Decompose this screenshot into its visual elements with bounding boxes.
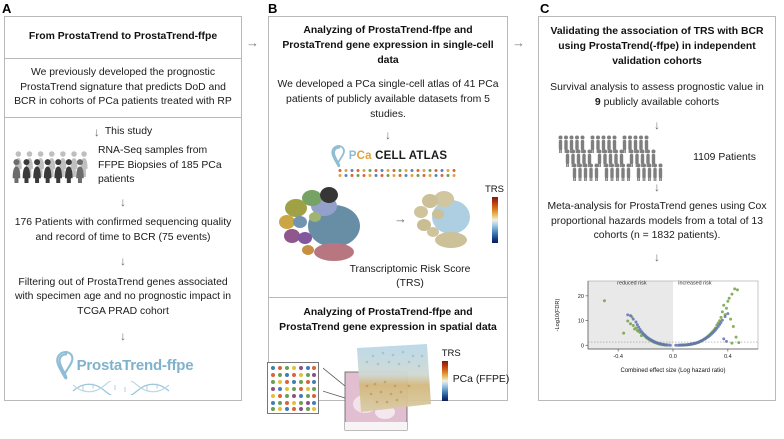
panel-a-title-cell: From ProstaTrend to ProstaTrend-ffpe	[5, 17, 241, 58]
volcano-annotation-1: increased risk	[678, 281, 712, 287]
trs-legend-singlecell: TRS	[485, 184, 504, 243]
panel-c-title: Validating the association of TRS with B…	[546, 25, 768, 69]
down-arrow-icon-b1: ↓	[385, 129, 391, 141]
volcano-ytick-0: 0	[581, 343, 584, 349]
trs-colorbar-2	[442, 361, 448, 401]
panel-c-letter: C	[540, 1, 550, 16]
panel-c-survival-text: Survival analysis to assess prognostic v…	[546, 81, 768, 111]
down-arrow-icon-c3: ↓	[654, 251, 660, 263]
volcano-annotation-0: reduced risk	[617, 281, 647, 287]
panel-a-intro-cell: We previously developed the prognostic P…	[5, 58, 241, 117]
this-study-arrow-row: ↓ This study	[94, 126, 152, 138]
trs-legend-label: TRS	[485, 184, 504, 195]
panel-b-singlecell-cell: Analyzing of ProstaTrend-ffpe and Prosta…	[269, 17, 507, 297]
panel-b-spatial-cell: Analyzing of ProstaTrend-ffpe and Prosta…	[269, 297, 507, 439]
panel-a: A → From ProstaTrend to ProstaTrend-ffpe…	[0, 0, 258, 407]
ribbon-icon	[53, 350, 75, 380]
panel-b-title: Analyzing of ProstaTrend-ffpe and Prosta…	[276, 24, 500, 68]
meta-analysis-text: Meta-analysis for ProstaTrend genes usin…	[546, 200, 768, 244]
panel-c-validation-cell: Validating the association of TRS with B…	[539, 17, 775, 188]
volcano-xtick-0: -0.4	[613, 354, 623, 360]
down-arrow-icon-c2: ↓	[649, 181, 665, 193]
volcano-xtick-1: 0.0	[669, 354, 677, 360]
down-arrow-icon: ↓	[94, 126, 100, 138]
atlas-cellatlas: CELL ATLAS	[375, 150, 447, 162]
panel-a-title: From ProstaTrend to ProstaTrend-ffpe	[29, 30, 217, 45]
trs-colorbar	[492, 197, 498, 243]
atlas-p: P	[349, 150, 357, 162]
down-arrow-icon-c1: ↓	[654, 119, 660, 131]
survival-post: publicly available cohorts	[604, 97, 720, 108]
volcano-ylabel: -Log10(FDR)	[555, 299, 561, 332]
volcano-ytick-2: 20	[578, 294, 584, 300]
spot-grid-icon	[267, 362, 319, 414]
people-group-icon	[12, 149, 90, 183]
panel-a-flow-cell: ↓ This study	[5, 117, 241, 400]
umap-trs-plot	[411, 179, 481, 259]
dna-helix-icon	[69, 381, 177, 395]
panel-b-intro: We developed a PCa single-cell atlas of …	[276, 78, 500, 122]
volcano-xtick-2: 0.4	[724, 354, 732, 360]
panel-b-letter: B	[268, 1, 278, 16]
atlas-logo-text: PCa CELL ATLAS	[349, 150, 447, 162]
umap-comparison-row: → TRS	[272, 176, 504, 262]
patients-count-label: 1109 Patients	[693, 151, 756, 166]
panel-b-title2: Analyzing of ProstaTrend-ffpe and Prosta…	[276, 306, 500, 336]
people-crowd-icon	[558, 135, 688, 183]
trs-legend-label-2: TRS	[442, 348, 510, 359]
panel-a-intro: We previously developed the prognostic P…	[12, 66, 234, 110]
prostatrend-ffpe-logo: ProstaTrend-ffpe	[53, 350, 194, 380]
down-arrow-icon-2: ↓	[120, 196, 126, 208]
cohort-patients-row: 1109 Patients	[546, 135, 768, 183]
people-silhouettes-svg	[12, 149, 90, 183]
ribbon-icon-atlas	[329, 144, 346, 168]
patients-text: 176 Patients with confirmed sequencing q…	[12, 216, 234, 246]
volcano-plot-container: reduced riskincreased risk-0.40.00.40102…	[550, 265, 764, 375]
people-crowd-svg	[558, 135, 688, 183]
rnaseq-step: RNA-Seq samples from FFPE Biopsies of 18…	[12, 144, 234, 188]
spatial-caption: PCa (FFPE)	[453, 373, 510, 388]
volcano-ytick-1: 10	[578, 319, 584, 325]
down-arrow-icon-4: ↓	[120, 330, 126, 342]
figure-root: A → From ProstaTrend to ProstaTrend-ffpe…	[0, 0, 784, 407]
panel-a-box: From ProstaTrend to ProstaTrend-ffpe We …	[4, 16, 242, 401]
down-arrow-icon-3: ↓	[120, 255, 126, 267]
survival-pre: Survival analysis to assess prognostic v…	[550, 82, 764, 93]
atlas-ca: Ca	[357, 150, 372, 162]
rnaseq-text: RNA-Seq samples from FFPE Biopsies of 18…	[98, 144, 234, 188]
panel-b: B → Analyzing of ProstaTrend-ffpe and Pr…	[258, 0, 524, 407]
umap-arrow-icon: →	[394, 212, 407, 225]
volcano-plot: reduced riskincreased risk-0.40.00.40102…	[550, 265, 764, 375]
spatial-tissue-figure	[323, 342, 438, 434]
panel-c-meta-cell: Meta-analysis for ProstaTrend genes usin…	[539, 188, 775, 400]
spatial-trs-legend: TRS PCa (FFPE)	[442, 348, 510, 401]
this-study-label: This study	[105, 126, 152, 137]
panel-c: C Validating the association of TRS with…	[524, 0, 784, 407]
survival-count: 9	[595, 97, 601, 108]
umap-celltype-plot	[272, 176, 390, 262]
filtering-text: Filtering out of ProstaTrend genes assoc…	[12, 276, 234, 320]
panel-c-box: Validating the association of TRS with B…	[538, 16, 776, 401]
pca-cell-atlas-logo: PCa CELL ATLAS	[329, 144, 447, 168]
panel-b-box: Analyzing of ProstaTrend-ffpe and Prosta…	[268, 16, 508, 401]
trs-caption: Transcriptomic Risk Score (TRS)	[335, 263, 485, 293]
spatial-legend-row: PCa (FFPE)	[442, 361, 510, 401]
volcano-xlabel: Combined effect size (Log hazard ratio)	[621, 368, 726, 374]
prostatrend-ffpe-logo-text: ProstaTrend-ffpe	[77, 357, 194, 374]
panel-a-letter: A	[2, 1, 12, 16]
spatial-figure-row: TRS PCa (FFPE)	[267, 342, 510, 434]
